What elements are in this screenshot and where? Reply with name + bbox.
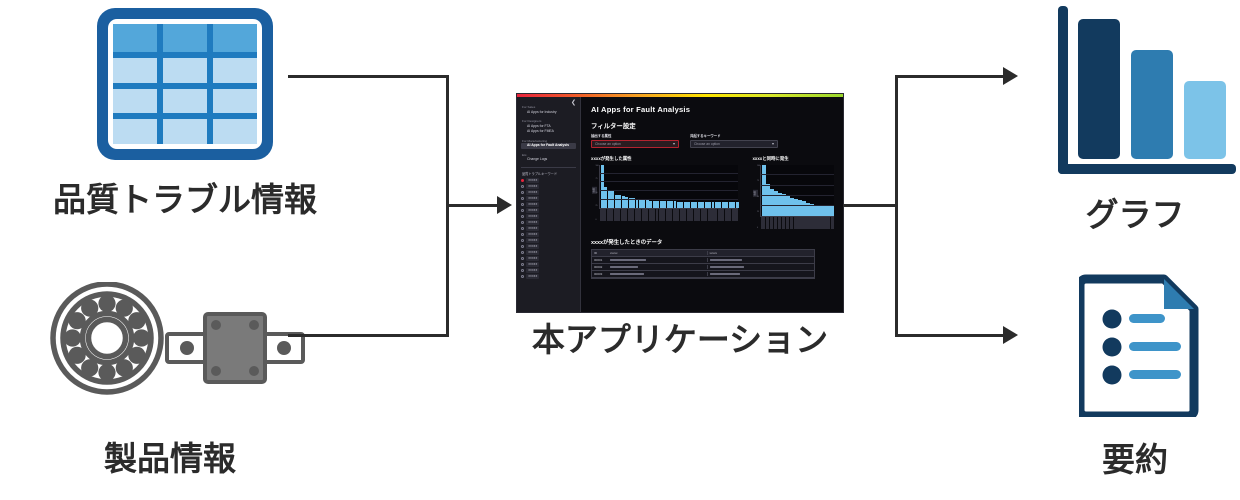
sidebar-radio-label: xxxxx bbox=[526, 268, 539, 273]
sidebar-radio-label: xxxxx bbox=[526, 214, 539, 219]
chart-attribute-occurrence: xxxxが発生した属性 件数 1007550250 bbox=[591, 156, 738, 230]
table-col-b: xxxxx bbox=[707, 251, 807, 255]
sidebar-radio-label: xxxxx bbox=[526, 226, 539, 231]
table-row[interactable]: 00002 bbox=[592, 264, 814, 271]
chart-x-tick bbox=[814, 217, 818, 229]
radio-button-icon[interactable] bbox=[521, 233, 524, 236]
table-cell-a bbox=[608, 272, 707, 276]
filter-controls-row: 抽出する属性 Choose an option ▾ 共起するキーワード Choo… bbox=[591, 133, 834, 148]
chart-x-tick bbox=[794, 217, 798, 229]
table-cell-redacted-text bbox=[610, 266, 638, 268]
chart-bar bbox=[814, 205, 818, 215]
chevron-down-icon: ▾ bbox=[673, 141, 675, 146]
chart-x-tick bbox=[818, 217, 822, 229]
chart-x-tick bbox=[806, 217, 810, 229]
chart-x-tick bbox=[822, 217, 826, 229]
radio-button-icon[interactable] bbox=[521, 227, 524, 230]
filter-attribute-select[interactable]: Choose an option ▾ bbox=[591, 140, 679, 148]
sidebar-radio-label: xxxxx bbox=[526, 244, 539, 249]
table-cell-redacted-text bbox=[610, 259, 646, 261]
radio-button-icon[interactable] bbox=[521, 221, 524, 224]
table-cell-b bbox=[707, 258, 807, 262]
radio-button-icon[interactable] bbox=[521, 191, 524, 194]
chart-x-tick bbox=[826, 217, 830, 229]
chart-x-tick bbox=[782, 217, 786, 229]
sidebar-radio-label: xxxxx bbox=[526, 274, 539, 279]
table-body: 000010000200003 bbox=[592, 257, 814, 278]
data-table[interactable]: ID xxxxx xxxxx 000010000200003 bbox=[591, 249, 815, 279]
chart-x-tick-labels bbox=[760, 217, 834, 229]
table-cell-redacted-text bbox=[610, 273, 644, 275]
connector-line-output-spine bbox=[895, 75, 898, 337]
arrowhead-output-summary bbox=[1003, 326, 1018, 344]
sidebar-item-ai-apps-for-industry[interactable]: AI Apps for Industry bbox=[521, 110, 576, 115]
radio-button-icon[interactable] bbox=[521, 197, 524, 200]
output-label-summary: 要約 bbox=[1040, 433, 1230, 481]
radio-button-icon[interactable] bbox=[521, 185, 524, 188]
filter-attribute-value: Choose an option bbox=[595, 142, 621, 146]
chart-x-tick bbox=[810, 217, 814, 229]
chart-cooccurrence: xxxxと同時に発生 件数 1007550250 bbox=[752, 156, 834, 230]
chart-x-tick bbox=[798, 217, 802, 229]
app-main-panel: AI Apps for Fault Analysis フィルター設定 抽出する属… bbox=[581, 97, 843, 312]
chart-x-tick bbox=[774, 217, 778, 229]
chart-bar bbox=[826, 205, 830, 215]
table-cell-redacted-text bbox=[710, 266, 744, 268]
chart-bar bbox=[790, 198, 794, 215]
table-cell-b bbox=[707, 265, 807, 269]
diagram-canvas: 品質トラブル情報 bbox=[0, 0, 1240, 500]
sidebar-radio-option[interactable]: xxxxx bbox=[521, 274, 576, 280]
sidebar-radio-label: xxxxx bbox=[526, 190, 539, 195]
app-page-title: AI Apps for Fault Analysis bbox=[591, 105, 834, 114]
chart-plot-area bbox=[760, 165, 834, 217]
radio-button-icon[interactable] bbox=[521, 209, 524, 212]
filter-keyword-group: 共起するキーワード Choose an option ▾ bbox=[690, 133, 778, 148]
chart-bar bbox=[810, 204, 814, 215]
chart-x-tick bbox=[761, 217, 765, 229]
input-label-product-info: 製品情報 bbox=[0, 432, 340, 480]
chart-x-tick bbox=[735, 209, 738, 221]
sidebar-radio-label: xxxxx bbox=[526, 256, 539, 261]
sidebar-filter-legend: 品質トラブルキーワード bbox=[521, 171, 576, 176]
radio-button-icon[interactable] bbox=[521, 215, 524, 218]
filter-section-title: フィルター設定 bbox=[591, 121, 834, 130]
data-table-title: xxxxが発生したときのデータ bbox=[591, 238, 834, 246]
chart-bar bbox=[794, 199, 798, 215]
sidebar-item-ai-apps-for-fault-analysis[interactable]: AI Apps for Fault Analysis bbox=[521, 143, 576, 148]
chart-x-tick bbox=[831, 217, 835, 229]
chart-x-tick bbox=[790, 217, 794, 229]
sidebar-divider bbox=[521, 167, 576, 168]
radio-button-icon[interactable] bbox=[521, 179, 524, 182]
sidebar-radio-label: xxxxx bbox=[526, 250, 539, 255]
filter-keyword-select[interactable]: Choose an option ▾ bbox=[690, 140, 778, 148]
table-cell-redacted-text bbox=[710, 273, 740, 275]
sidebar-radio-label: xxxxx bbox=[526, 178, 539, 183]
chart-x-tick bbox=[802, 217, 806, 229]
filter-keyword-label: 共起するキーワード bbox=[690, 133, 778, 138]
radio-button-icon[interactable] bbox=[521, 251, 524, 254]
table-row[interactable]: 00001 bbox=[592, 257, 814, 264]
table-cell-redacted-text bbox=[710, 259, 742, 261]
sidebar-item-change-logs[interactable]: Change Logs bbox=[521, 157, 576, 162]
filter-attribute-group: 抽出する属性 Choose an option ▾ bbox=[591, 133, 679, 148]
arrowhead-input-to-app bbox=[497, 196, 512, 214]
sidebar-radio-label: xxxxx bbox=[526, 232, 539, 237]
chart-bar bbox=[770, 189, 774, 216]
spreadsheet-icon bbox=[97, 8, 273, 160]
document-list-icon bbox=[1079, 272, 1201, 417]
connector-line-top-output bbox=[895, 75, 1005, 78]
table-cell-id: 00003 bbox=[592, 272, 608, 276]
bar-chart-icon bbox=[1057, 5, 1237, 187]
chart-bar bbox=[786, 196, 790, 215]
output-label-graph: グラフ bbox=[1030, 188, 1240, 236]
table-cell-id: 00002 bbox=[592, 265, 608, 269]
table-col-a: xxxxx bbox=[608, 251, 707, 255]
chart-x-tick bbox=[766, 217, 770, 229]
chart-bar bbox=[766, 184, 770, 216]
radio-button-icon[interactable] bbox=[521, 239, 524, 242]
center-label-application: 本アプリケーション bbox=[500, 313, 860, 361]
chart-bar bbox=[762, 165, 766, 216]
connector-line-app-to-split bbox=[843, 204, 898, 207]
sidebar-radio-label: xxxxx bbox=[526, 196, 539, 201]
filter-attribute-label: 抽出する属性 bbox=[591, 133, 679, 138]
connector-line-bottom-output bbox=[895, 334, 1005, 337]
arrowhead-output-graph bbox=[1003, 67, 1018, 85]
radio-button-icon[interactable] bbox=[521, 269, 524, 272]
radio-button-icon[interactable] bbox=[521, 263, 524, 266]
table-col-id: ID bbox=[592, 251, 608, 255]
app-sidebar[interactable]: ❮ For Sales AI Apps for Industry For Des… bbox=[517, 97, 581, 312]
chart-title: xxxxと同時に発生 bbox=[752, 156, 834, 162]
radio-button-icon[interactable] bbox=[521, 257, 524, 260]
table-header-row: ID xxxxx xxxxx bbox=[592, 250, 814, 257]
sidebar-radio-label: xxxxx bbox=[526, 184, 539, 189]
radio-button-icon[interactable] bbox=[521, 245, 524, 248]
chart-plot-area bbox=[599, 165, 738, 209]
chart-x-tick bbox=[778, 217, 782, 229]
chart-title: xxxxが発生した属性 bbox=[591, 156, 738, 162]
sidebar-radio-list[interactable]: xxxxxxxxxxxxxxxxxxxxxxxxxxxxxxxxxxxxxxxx… bbox=[521, 178, 576, 280]
chart-bar bbox=[818, 205, 822, 215]
radio-button-icon[interactable] bbox=[521, 203, 524, 206]
connector-line-input-to-app bbox=[446, 204, 498, 207]
chart-bar bbox=[736, 202, 739, 208]
table-row[interactable]: 00003 bbox=[592, 271, 814, 278]
app-screenshot[interactable]: ❮ For Sales AI Apps for Industry For Des… bbox=[516, 93, 844, 313]
table-cell-a bbox=[608, 265, 707, 269]
sidebar-item-ai-apps-for-fmea[interactable]: AI Apps for FMEA bbox=[521, 129, 576, 134]
table-cell-a bbox=[608, 258, 707, 262]
filter-keyword-value: Choose an option bbox=[694, 142, 720, 146]
chart-bar bbox=[830, 205, 834, 215]
connector-line-top-input bbox=[288, 75, 448, 78]
sidebar-radio-label: xxxxx bbox=[526, 208, 539, 213]
charts-row: xxxxが発生した属性 件数 1007550250 xxxxと同時に発生 bbox=[591, 156, 834, 230]
table-cell-id: 00001 bbox=[592, 258, 608, 262]
chart-bar bbox=[822, 205, 826, 215]
sidebar-radio-label: xxxxx bbox=[526, 262, 539, 267]
connector-line-bottom-input bbox=[288, 334, 448, 337]
chevron-left-icon[interactable]: ❮ bbox=[571, 100, 576, 106]
chart-x-tick bbox=[786, 217, 790, 229]
chart-bar bbox=[798, 200, 802, 215]
chart-x-tick-labels bbox=[599, 209, 738, 221]
radio-button-icon[interactable] bbox=[521, 275, 524, 278]
sidebar-radio-label: xxxxx bbox=[526, 238, 539, 243]
input-label-quality-trouble: 品質トラブル情報 bbox=[0, 173, 370, 221]
chevron-down-icon: ▾ bbox=[772, 141, 774, 146]
bearing-icon bbox=[50, 282, 320, 407]
table-cell-b bbox=[707, 272, 807, 276]
sidebar-radio-label: xxxxx bbox=[526, 220, 539, 225]
chart-bar bbox=[802, 201, 806, 215]
sidebar-radio-label: xxxxx bbox=[526, 202, 539, 207]
chart-x-tick bbox=[770, 217, 774, 229]
